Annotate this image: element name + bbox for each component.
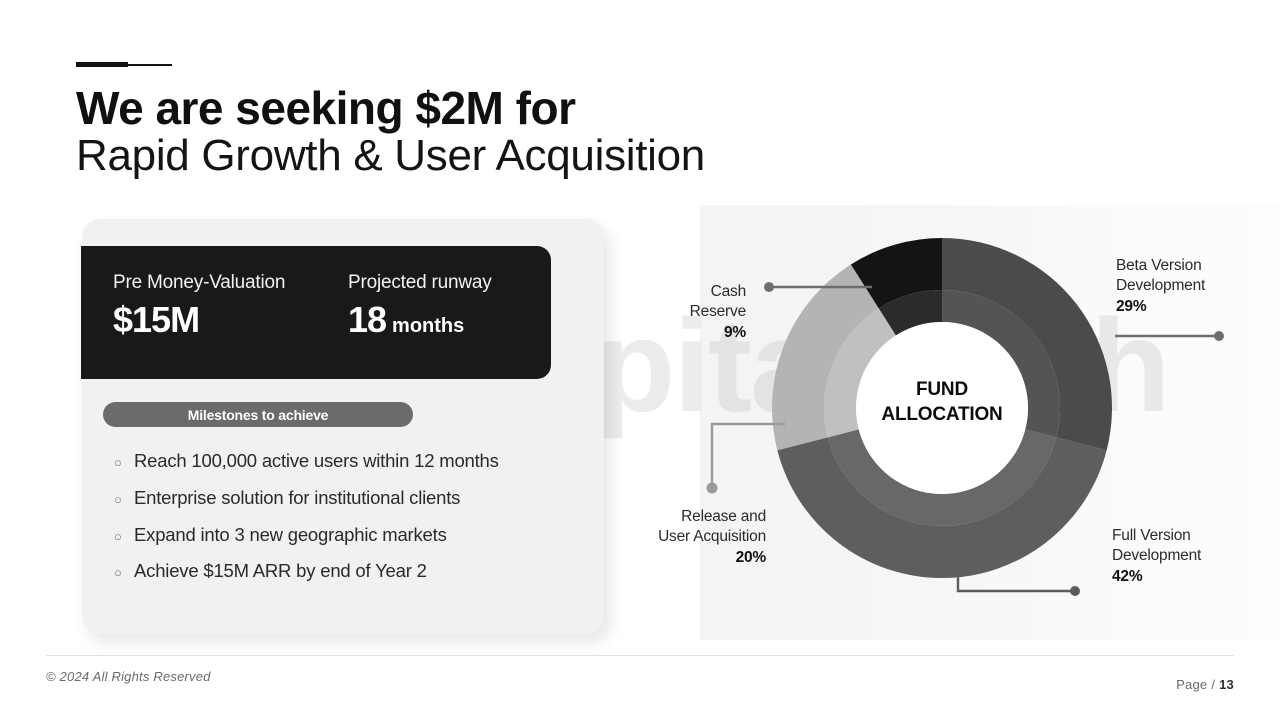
callout-line1: Release and [600, 507, 766, 527]
bullet-circle-icon: ○ [114, 456, 134, 469]
key-metrics-banner: Pre Money-Valuation $15M Projected runwa… [81, 246, 551, 379]
page-label: Page [1176, 677, 1207, 692]
page-title-line2: Rapid Growth & User Acquisition [76, 131, 705, 182]
list-item: ○ Achieve $15M ARR by end of Year 2 [114, 558, 584, 585]
callout-cash-reserve: Cash Reserve 9% [620, 282, 746, 343]
callout-release-user-acquisition: Release and User Acquisition 20% [600, 507, 766, 568]
milestones-pill: Milestones to achieve [103, 402, 413, 427]
metric-value-unit: months [392, 315, 464, 337]
list-item: ○ Reach 100,000 active users within 12 m… [114, 448, 584, 475]
donut-center-line2: ALLOCATION [857, 403, 1027, 428]
donut-center-label: FUND ALLOCATION [857, 378, 1027, 427]
callout-line1: Full Version [1112, 526, 1201, 546]
callout-line2: Development [1116, 276, 1205, 296]
leader-dot-full-version [1070, 586, 1080, 596]
bullet-circle-icon: ○ [114, 530, 134, 543]
leader-dot-release-acquisition [707, 483, 718, 494]
callout-line1: Beta Version [1116, 256, 1205, 276]
callout-percent: 20% [600, 548, 766, 568]
callout-line1: Cash [620, 282, 746, 302]
bullet-circle-icon: ○ [114, 493, 134, 506]
list-item: ○ Enterprise solution for institutional … [114, 485, 584, 512]
metric-value: $15M [113, 302, 285, 338]
metric-value: 18months [348, 302, 492, 338]
callout-percent: 42% [1112, 567, 1201, 587]
slide-root: CapitalPitch We are seeking $2M for Rapi… [0, 0, 1280, 720]
accent-segment-thin [128, 64, 172, 66]
callout-line2: User Acquisition [600, 527, 766, 547]
list-item-label: Reach 100,000 active users within 12 mon… [134, 448, 499, 475]
page-number: 13 [1219, 677, 1234, 692]
list-item: ○ Expand into 3 new geographic markets [114, 522, 584, 549]
callout-full-version-development: Full Version Development 42% [1112, 526, 1201, 587]
page-title-line1: We are seeking $2M for [76, 82, 575, 135]
metric-value-number: $15M [113, 299, 199, 340]
list-item-label: Enterprise solution for institutional cl… [134, 485, 460, 512]
metric-projected-runway: Projected runway 18months [348, 272, 492, 338]
leader-dot-cash-reserve [764, 282, 774, 292]
metric-label: Projected runway [348, 272, 492, 294]
donut-center-line1: FUND [857, 378, 1027, 403]
metric-pre-money-valuation: Pre Money-Valuation $15M [113, 272, 285, 338]
milestones-pill-label: Milestones to achieve [188, 407, 329, 423]
metric-value-number: 18 [348, 299, 386, 340]
footer-divider [46, 655, 1234, 656]
callout-line2: Reserve [620, 302, 746, 322]
page-separator: / [1211, 677, 1215, 692]
metric-label: Pre Money-Valuation [113, 272, 285, 294]
callout-percent: 9% [620, 323, 746, 343]
milestones-list: ○ Reach 100,000 active users within 12 m… [114, 448, 584, 595]
callout-line2: Development [1112, 546, 1201, 566]
callout-beta-version-development: Beta Version Development 29% [1116, 256, 1205, 317]
copyright-text: © 2024 All Rights Reserved [46, 669, 211, 684]
bullet-circle-icon: ○ [114, 566, 134, 579]
title-accent-bar [76, 62, 172, 67]
list-item-label: Achieve $15M ARR by end of Year 2 [134, 558, 427, 585]
list-item-label: Expand into 3 new geographic markets [134, 522, 447, 549]
leader-dot-beta-version [1214, 331, 1224, 341]
accent-segment-thick [76, 62, 128, 67]
page-indicator: Page/13 [1176, 677, 1234, 692]
callout-percent: 29% [1116, 297, 1205, 317]
